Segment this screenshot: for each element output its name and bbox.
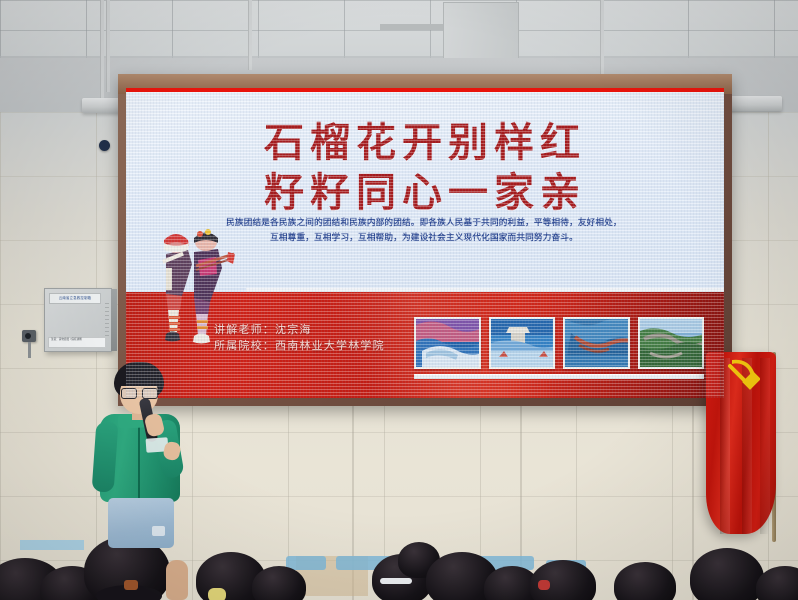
slide-photo-2 [489,317,556,369]
led-screen[interactable]: 石榴花开别样红 籽籽同心一家亲 民族团结是各民族之间的团结和民族内部的团结。即各… [126,92,724,398]
slide-bottom-white-bar [414,374,704,379]
presenter-school-line: 所属院校：西南林业大学林学院 [214,338,385,354]
camera-mount-arm [28,342,31,358]
ceiling-tile-grid [0,0,798,62]
communist-party-flag [706,352,784,542]
hair-clip [538,580,550,590]
wall-control-cabinet[interactable]: 云南省立急救控制箱 注意：请勿遮挡 / 保持通畅 [44,288,112,352]
flag-fold [760,358,770,534]
wall-blue-strip [20,540,84,550]
audience-head [690,548,764,600]
hair-scrunchie [208,588,226,600]
hair-clip [124,580,138,590]
speaker-with-microphone [86,362,196,548]
cabinet-label: 云南省立急救控制箱 [49,293,101,304]
audience-head [252,566,306,600]
lamp-rod [106,0,110,92]
cabinet-vent [105,303,109,337]
cabinet-label-text: 云南省立急救控制箱 [50,294,100,303]
presenter-teacher-line: 讲解老师：沈宗海 [214,322,385,338]
hair-pin [380,578,412,584]
cabinet-footer-text: 注意：请勿遮挡 / 保持通畅 [49,338,105,342]
slide-divider-line [246,288,724,292]
ceiling [0,0,798,62]
slide-title: 石榴花开别样红 籽籽同心一家亲 [126,118,724,218]
slide-body-paragraph: 民族团结是各民族之间的团结和民族内部的团结。即各族人民基于共同的利益，平等相待，… [174,216,674,246]
auditorium-scene: 石榴花开别样红 籽籽同心一家亲 民族团结是各民族之间的团结和民族内部的团结。即各… [0,0,798,600]
slide-body-line-2: 互相尊重，互相学习，互相帮助，为建设社会主义现代化国家而共同努力奋斗。 [174,231,674,246]
speaker-fringe [116,368,162,386]
ceiling-air-duct [443,2,519,62]
speaker-glasses [121,388,158,397]
lamp-rod [248,0,252,70]
slide-body-line-1: 民族团结是各民族之间的团结和民族内部的团结。即各族人民基于共同的利益，平等相待，… [174,216,674,231]
slide-photo-3 [563,317,630,369]
speaker-shorts [108,498,174,548]
raised-hand [166,560,188,600]
lamp-rod [600,0,604,74]
slide-title-line-2: 籽籽同心一家亲 [126,168,724,218]
lamp-rod [100,0,104,100]
slide-photo-4 [638,317,705,369]
slide-photo-strip [414,317,704,365]
cabinet-footer-label: 注意：请勿遮挡 / 保持通畅 [48,337,106,348]
slide-photo-1 [414,317,481,369]
cabinet-side-panel [111,289,117,351]
hammer-and-sickle-emblem [726,356,760,390]
speaker-jacket-zipper [138,420,140,500]
ceiling-speaker-dot [99,140,110,151]
slide-presenter-info: 讲解老师：沈宗海 所属院校：西南林业大学林学院 [214,322,385,354]
slide-title-line-1: 石榴花开别样红 [126,118,724,168]
wall-camera [22,330,36,342]
